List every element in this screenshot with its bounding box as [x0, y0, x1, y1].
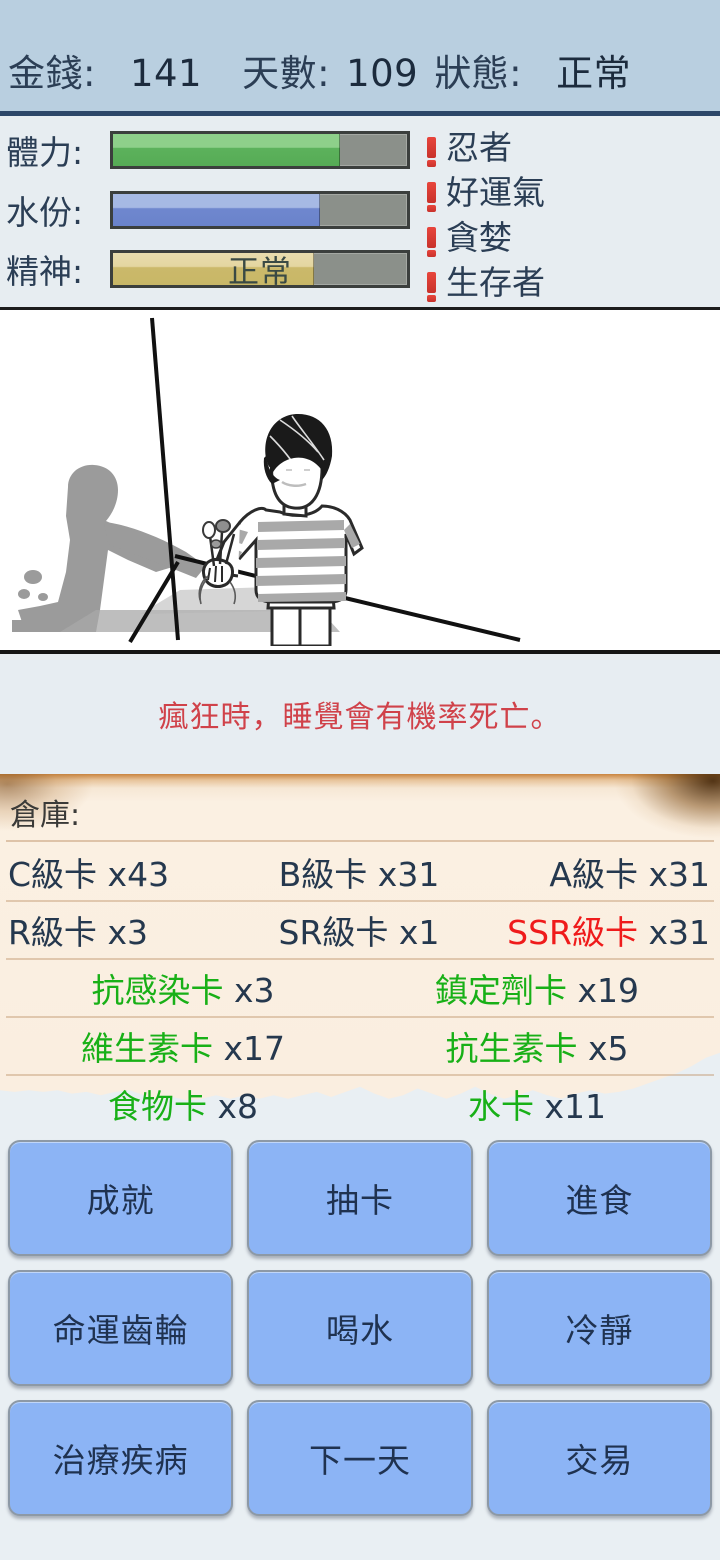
- item-qty: x5: [588, 1029, 629, 1068]
- fate-wheel-button[interactable]: 命運齒輪: [8, 1270, 233, 1386]
- inventory-row: 食物卡 x8 水卡 x11: [6, 1076, 714, 1132]
- message-text: 瘋狂時，睡覺會有機率死亡。: [159, 692, 562, 736]
- inventory-row: 維生素卡 x17 抗生素卡 x5: [6, 1018, 714, 1076]
- status-header-row: 金錢: 141 天數: 109 狀態: 正常: [8, 43, 712, 97]
- trait-label: 生存者: [446, 256, 545, 304]
- exclamation-icon: [418, 262, 444, 298]
- item-qty: x31: [648, 855, 710, 894]
- progress-fill-mind: [113, 253, 314, 285]
- next-day-button[interactable]: 下一天: [247, 1400, 472, 1516]
- item-qty: x3: [234, 971, 275, 1010]
- item-name: A級卡: [549, 855, 638, 894]
- trait-list: 忍者 好運氣 貪婪 生存者: [418, 116, 720, 307]
- draw-card-button[interactable]: 抽卡: [247, 1140, 472, 1256]
- inventory-item[interactable]: B級卡 x31: [242, 848, 476, 896]
- state-label: 狀態:: [434, 43, 522, 97]
- trade-button[interactable]: 交易: [487, 1400, 712, 1516]
- vital-label-hp: 體力:: [0, 126, 110, 174]
- scene-artwork: [0, 310, 720, 646]
- item-qty: x1: [399, 913, 440, 952]
- progress-bar-water: [110, 191, 410, 229]
- item-name: 水卡: [468, 1087, 534, 1126]
- state-value: 正常: [556, 43, 631, 97]
- trait-item[interactable]: 生存者: [418, 257, 720, 302]
- treat-illness-button[interactable]: 治療疾病: [8, 1400, 233, 1516]
- item-name: 維生素卡: [81, 1029, 213, 1068]
- action-row: 成就 抽卡 進食: [8, 1140, 712, 1256]
- inventory-item[interactable]: 食物卡 x8: [6, 1080, 360, 1128]
- money-label: 金錢:: [8, 43, 96, 97]
- inventory-row: 抗感染卡 x3 鎮定劑卡 x19: [6, 960, 714, 1018]
- inventory-panel: 倉庫: C級卡 x43 B級卡 x31 A級卡 x31 R級卡 x3 SR級卡 …: [0, 774, 720, 1134]
- vital-row-water: 水份:: [0, 184, 418, 236]
- trait-label: 好運氣: [446, 166, 545, 214]
- item-qty: x11: [544, 1087, 606, 1126]
- game-screen: 金錢: 141 天數: 109 狀態: 正常 體力: 水份:: [0, 0, 720, 1560]
- item-name: SR級卡: [279, 913, 389, 952]
- inventory-item[interactable]: SSR級卡 x31: [476, 906, 714, 954]
- message-banner: 瘋狂時，睡覺會有機率死亡。: [0, 654, 720, 774]
- exclamation-icon: [418, 172, 444, 208]
- days-label: 天數:: [242, 43, 330, 97]
- vital-label-mind: 精神:: [0, 245, 110, 293]
- item-name: 鎮定劑卡: [435, 971, 567, 1010]
- item-name: C級卡: [8, 855, 97, 894]
- item-qty: x31: [378, 855, 440, 894]
- scene-illustration: [0, 310, 720, 654]
- action-row: 命運齒輪 喝水 冷靜: [8, 1270, 712, 1386]
- inventory-row: C級卡 x43 B級卡 x31 A級卡 x31: [6, 844, 714, 902]
- trait-item[interactable]: 貪婪: [418, 212, 720, 257]
- vitals-panel: 體力: 水份: 精神: 正常: [0, 116, 720, 310]
- inventory-item[interactable]: C級卡 x43: [6, 848, 242, 896]
- calm-down-button[interactable]: 冷靜: [487, 1270, 712, 1386]
- money-value: 141: [130, 52, 202, 95]
- action-button-grid: 成就 抽卡 進食 命運齒輪 喝水 冷靜 治療疾病 下一天 交易: [0, 1134, 720, 1560]
- item-name: 抗感染卡: [91, 971, 223, 1010]
- inventory-item[interactable]: 水卡 x11: [360, 1080, 714, 1128]
- progress-fill-water: [113, 194, 320, 226]
- trait-label: 貪婪: [446, 211, 512, 259]
- inventory-item[interactable]: 鎮定劑卡 x19: [360, 964, 714, 1012]
- item-qty: x43: [108, 855, 170, 894]
- exclamation-icon: [418, 127, 444, 163]
- item-qty: x19: [577, 971, 639, 1010]
- inventory-content: 倉庫: C級卡 x43 B級卡 x31 A級卡 x31 R級卡 x3 SR級卡 …: [0, 774, 720, 1132]
- item-name: 食物卡: [108, 1087, 207, 1126]
- trait-item[interactable]: 好運氣: [418, 167, 720, 212]
- vital-bars: 體力: 水份: 精神: 正常: [0, 116, 418, 307]
- inventory-item[interactable]: 維生素卡 x17: [6, 1022, 360, 1070]
- days-value: 109: [346, 52, 418, 95]
- eat-button[interactable]: 進食: [487, 1140, 712, 1256]
- item-qty: x31: [648, 913, 710, 952]
- item-name: R級卡: [8, 913, 97, 952]
- item-name: B級卡: [279, 855, 368, 894]
- status-header: 金錢: 141 天數: 109 狀態: 正常: [0, 0, 720, 116]
- progress-bar-hp: [110, 131, 410, 169]
- item-qty: x3: [107, 913, 148, 952]
- exclamation-icon: [418, 217, 444, 253]
- item-name: SSR級卡: [507, 913, 638, 952]
- drink-water-button[interactable]: 喝水: [247, 1270, 472, 1386]
- trait-label: 忍者: [446, 121, 512, 169]
- inventory-item[interactable]: A級卡 x31: [476, 848, 714, 896]
- inventory-item[interactable]: 抗生素卡 x5: [360, 1022, 714, 1070]
- item-name: 抗生素卡: [445, 1029, 577, 1068]
- trait-item[interactable]: 忍者: [418, 122, 720, 167]
- achievements-button[interactable]: 成就: [8, 1140, 233, 1256]
- item-qty: x8: [217, 1087, 258, 1126]
- vital-row-hp: 體力:: [0, 124, 418, 176]
- inventory-row: R級卡 x3 SR級卡 x1 SSR級卡 x31: [6, 902, 714, 960]
- inventory-item[interactable]: 抗感染卡 x3: [6, 964, 360, 1012]
- vital-row-mind: 精神: 正常: [0, 243, 418, 295]
- vital-label-water: 水份:: [0, 186, 110, 234]
- inventory-title: 倉庫:: [6, 790, 714, 842]
- inventory-item[interactable]: SR級卡 x1: [242, 906, 476, 954]
- item-qty: x17: [223, 1029, 285, 1068]
- inventory-item[interactable]: R級卡 x3: [6, 906, 242, 954]
- progress-fill-hp: [113, 134, 340, 166]
- action-row: 治療疾病 下一天 交易: [8, 1400, 712, 1516]
- progress-bar-mind: 正常: [110, 250, 410, 288]
